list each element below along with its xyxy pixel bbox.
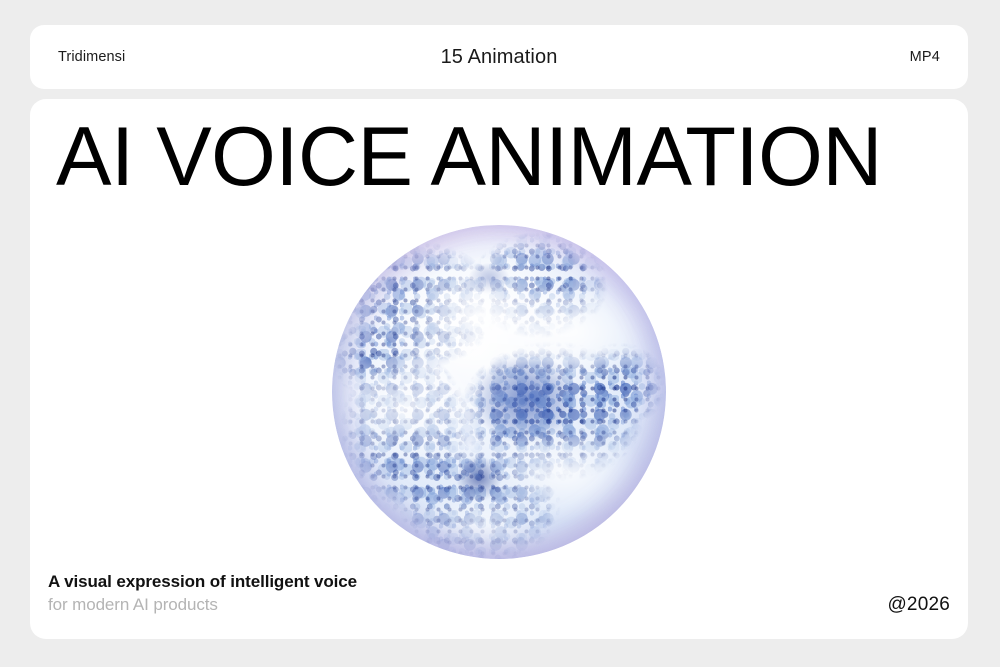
- file-format-label: MP4: [780, 49, 940, 65]
- tagline-muted-text: for modern AI products: [48, 595, 218, 614]
- brand-label: Tridimensi: [58, 49, 218, 65]
- sphere-foam-layer-c: [332, 225, 666, 559]
- tagline: A visual expression of intelligent voice…: [48, 571, 378, 617]
- slide-canvas: Tridimensi 15 Animation MP4 AI VOICE ANI…: [0, 0, 1000, 667]
- footer: A visual expression of intelligent voice…: [30, 571, 968, 617]
- bubble-sphere-icon: [332, 225, 666, 559]
- sphere-visual: [332, 225, 666, 559]
- page-title: AI VOICE ANIMATION: [56, 115, 946, 200]
- main-content-card: AI VOICE ANIMATION A visual expression o…: [30, 99, 968, 639]
- tagline-strong-text: A visual expression of intelligent voice: [48, 572, 357, 591]
- year-label: @2026: [887, 594, 950, 617]
- header-bar: Tridimensi 15 Animation MP4: [30, 25, 968, 89]
